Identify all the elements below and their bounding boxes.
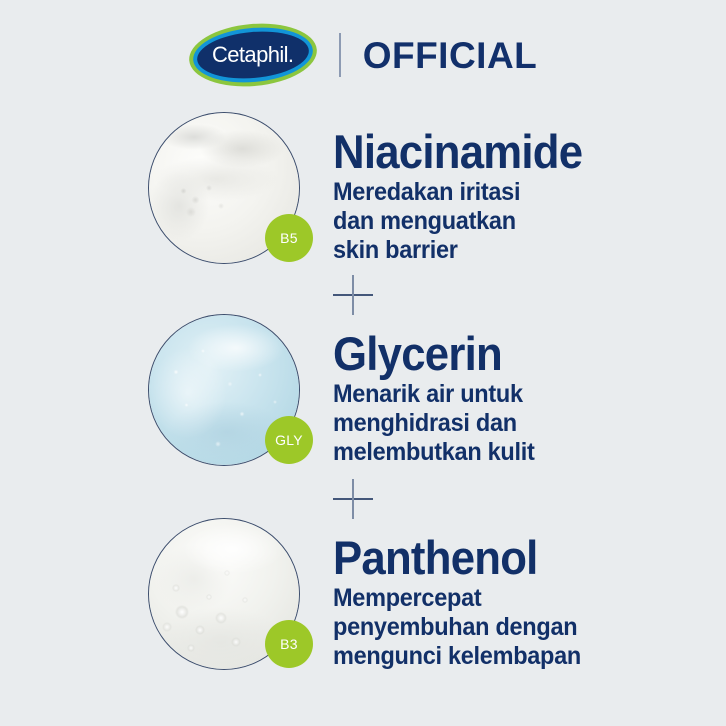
niacinamide-copy: Niacinamide Meredakan iritasi dan mengua… [333,128,703,265]
plus-vertical-bar [352,479,354,519]
plus-separator-1 [333,275,373,315]
desc-line: dan menguatkan [333,207,681,236]
plus-vertical-bar [352,275,354,315]
ingredient-row-niacinamide: B5 Niacinamide Meredakan iritasi dan men… [0,112,726,280]
ingredient-desc-niacinamide: Meredakan iritasi dan menguatkan skin ba… [333,178,681,265]
brand-header: Cetaphil. OFFICIAL [0,22,726,88]
desc-line: melembutkan kulit [333,438,681,467]
logo-wordmark: Cetaphil. [212,44,293,66]
ingredient-title-glycerin: Glycerin [333,330,677,377]
desc-line: Mempercepat [333,584,681,613]
desc-line: Meredakan iritasi [333,178,681,207]
glycerin-copy: Glycerin Menarik air untuk menghidrasi d… [333,330,703,467]
ingredient-infographic-canvas: Cetaphil. OFFICIAL B5 Niacinamide Mereda… [0,0,726,726]
ingredient-desc-panthenol: Mempercepat penyembuhan dengan mengunci … [333,584,681,671]
plus-separator-2 [333,479,373,519]
desc-line: Menarik air untuk [333,380,681,409]
desc-line: skin barrier [333,236,681,265]
ingredient-title-panthenol: Panthenol [333,534,677,581]
brand-divider [339,33,341,77]
badge-b5: B5 [265,214,313,262]
panthenol-copy: Panthenol Mempercepat penyembuhan dengan… [333,534,703,671]
badge-gly: GLY [265,416,313,464]
niacinamide-swatch-wrap: B5 [148,112,300,264]
panthenol-swatch-wrap: B3 [148,518,300,670]
ingredient-row-glycerin: GLY Glycerin Menarik air untuk menghidra… [0,314,726,482]
desc-line: penyembuhan dengan [333,613,681,642]
glycerin-swatch-wrap: GLY [148,314,300,466]
official-label: OFFICIAL [363,37,538,74]
ingredient-title-niacinamide: Niacinamide [333,128,677,175]
ingredient-row-panthenol: B3 Panthenol Mempercepat penyembuhan den… [0,518,726,686]
desc-line: mengunci kelembapan [333,642,681,671]
desc-line: menghidrasi dan [333,409,681,438]
badge-b3: B3 [265,620,313,668]
cetaphil-oval-logo: Cetaphil. [189,24,317,86]
ingredient-desc-glycerin: Menarik air untuk menghidrasi dan melemb… [333,380,681,467]
